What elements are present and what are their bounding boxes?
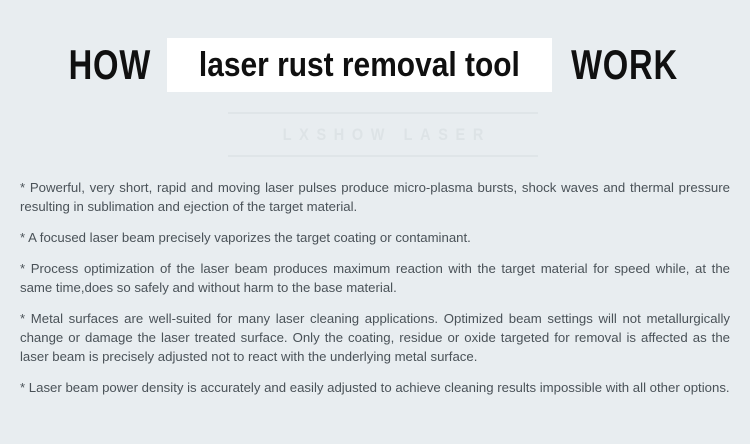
body-paragraph: * Metal surfaces are well-suited for man… (20, 309, 730, 366)
title-highlight-text: laser rust removal tool (195, 38, 523, 92)
body-paragraph: * Laser beam power density is accurately… (20, 378, 730, 397)
body-paragraph: * Powerful, very short, rapid and moving… (20, 178, 730, 216)
subtitle-brand-text: LXSHOW LASER (275, 125, 491, 145)
title-prefix-wrap: HOW (53, 38, 167, 92)
page-root: HOW laser rust removal tool WORK LXSHOW … (0, 0, 750, 444)
title-suffix-wrap: WORK (552, 38, 697, 92)
subtitle-band: LXSHOW LASER (228, 112, 538, 157)
body-paragraph: * A focused laser beam precisely vaporiz… (20, 228, 730, 247)
title-prefix: HOW (66, 38, 155, 92)
body-content: * Powerful, very short, rapid and moving… (20, 178, 730, 397)
title-suffix: WORK (568, 38, 681, 92)
title-highlight-box: laser rust removal tool (167, 38, 552, 92)
page-title: HOW laser rust removal tool WORK (0, 38, 750, 92)
body-paragraph: * Process optimization of the laser beam… (20, 259, 730, 297)
